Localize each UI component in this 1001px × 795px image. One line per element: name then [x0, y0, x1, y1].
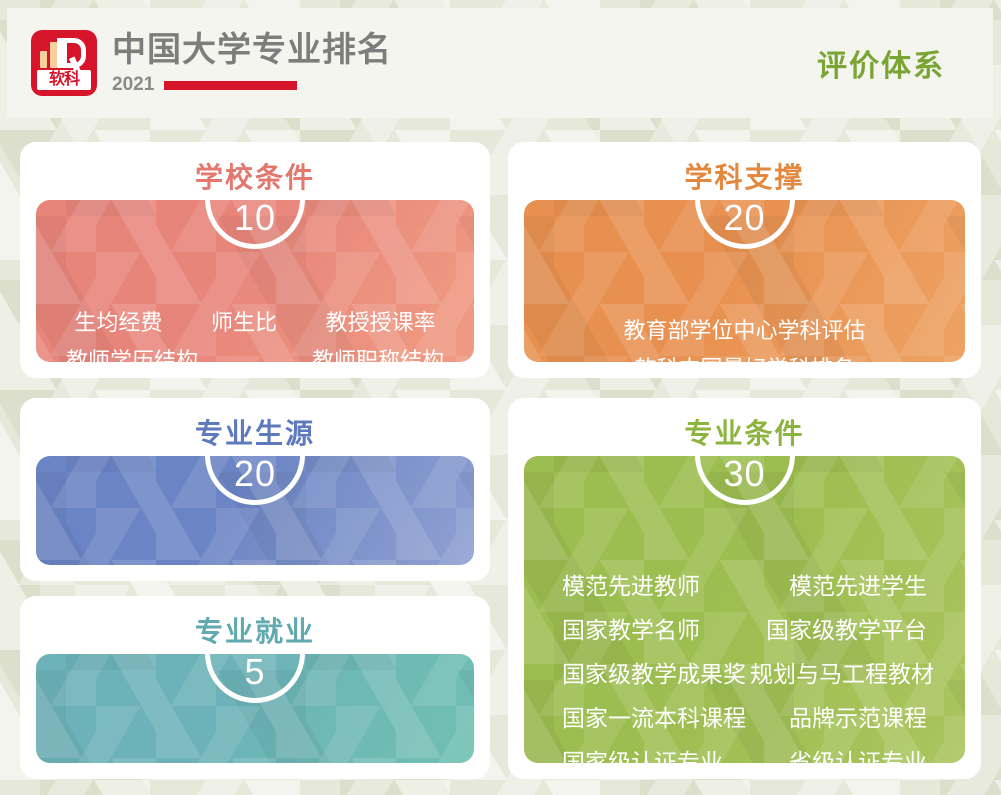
indicator-item: 新生高考成绩 [187, 560, 323, 565]
indicator-item: 模范先进教师 [560, 564, 702, 608]
indicator-list: 毕业生就业率 [50, 758, 460, 763]
indicator-item: 毕业生就业率 [187, 758, 323, 763]
indicator-item: 国家级教学成果奖 [560, 652, 748, 696]
card-color-block: 5毕业生就业率 [36, 654, 474, 763]
indicator-card-学校条件: 学校条件10生均经费师生比教授授课率教师学历结构教师职称结构 [20, 142, 490, 378]
indicator-item: 省级认证专业 [787, 740, 929, 763]
card-title: 专业生源 [20, 412, 490, 452]
indicator-card-专业就业: 专业就业5毕业生就业率 [20, 596, 490, 779]
indicator-item: 生均经费 [72, 304, 164, 342]
indicator-list: 教育部学位中心学科评估软科中国最好学科排名 [538, 312, 951, 362]
indicator-row: 教师学历结构教师职称结构 [50, 342, 460, 362]
card-title: 学科支撑 [508, 156, 981, 196]
indicator-row: 国家教学名师国家级教学平台 [546, 608, 943, 652]
indicator-row: 新生高考成绩 [50, 560, 460, 565]
indicator-row: 生均经费师生比教授授课率 [50, 304, 460, 342]
indicator-item: 国家一流本科课程 [560, 696, 748, 740]
indicator-item: 品牌示范课程 [787, 696, 929, 740]
card-score-weight: 20 [524, 200, 965, 240]
indicator-card-grid: 学校条件10生均经费师生比教授授课率教师学历结构教师职称结构学科支撑20教育部学… [0, 0, 1001, 795]
card-score-weight: 10 [36, 200, 474, 240]
card-color-block: 30模范先进教师模范先进学生国家教学名师国家级教学平台国家级教学成果奖规划与马工… [524, 456, 965, 763]
indicator-card-专业生源: 专业生源20新生高考成绩 [20, 398, 490, 581]
indicator-card-学科支撑: 学科支撑20教育部学位中心学科评估软科中国最好学科排名 [508, 142, 981, 378]
indicator-list: 生均经费师生比教授授课率教师学历结构教师职称结构 [50, 304, 460, 362]
indicator-item: 软科中国最好学科排名 [632, 350, 856, 362]
card-score-weight: 5 [36, 654, 474, 694]
card-color-block: 20教育部学位中心学科评估软科中国最好学科排名 [524, 200, 965, 362]
indicator-item: 国家教学名师 [560, 608, 702, 652]
indicator-row: 国家级教学成果奖规划与马工程教材 [546, 652, 943, 696]
indicator-row: 教育部学位中心学科评估 [538, 312, 951, 350]
indicator-item: 国家级认证专业 [560, 740, 725, 763]
indicator-item: 师生比 [209, 304, 279, 342]
indicator-row: 国家一流本科课程品牌示范课程 [546, 696, 943, 740]
indicator-row: 模范先进教师模范先进学生 [546, 564, 943, 608]
card-color-block: 20新生高考成绩 [36, 456, 474, 565]
indicator-item: 国家级教学平台 [764, 608, 929, 652]
indicator-card-专业条件: 专业条件30模范先进教师模范先进学生国家教学名师国家级教学平台国家级教学成果奖规… [508, 398, 981, 779]
card-score-weight: 20 [36, 456, 474, 496]
card-score-weight: 30 [524, 456, 965, 496]
indicator-list: 模范先进教师模范先进学生国家教学名师国家级教学平台国家级教学成果奖规划与马工程教… [546, 564, 943, 763]
indicator-row: 软科中国最好学科排名 [538, 350, 951, 362]
indicator-row: 国家级认证专业省级认证专业 [546, 740, 943, 763]
indicator-item: 教师职称结构 [310, 342, 446, 362]
indicator-item: 规划与马工程教材 [748, 652, 936, 696]
card-title: 专业条件 [508, 412, 981, 452]
indicator-item: 教师学历结构 [64, 342, 200, 362]
indicator-item: 教授授课率 [324, 304, 438, 342]
card-title: 学校条件 [20, 156, 490, 196]
indicator-row: 毕业生就业率 [50, 758, 460, 763]
indicator-item: 模范先进学生 [787, 564, 929, 608]
indicator-item: 教育部学位中心学科评估 [621, 312, 867, 350]
indicator-list: 新生高考成绩 [50, 560, 460, 565]
card-color-block: 10生均经费师生比教授授课率教师学历结构教师职称结构 [36, 200, 474, 362]
card-title: 专业就业 [20, 610, 490, 650]
